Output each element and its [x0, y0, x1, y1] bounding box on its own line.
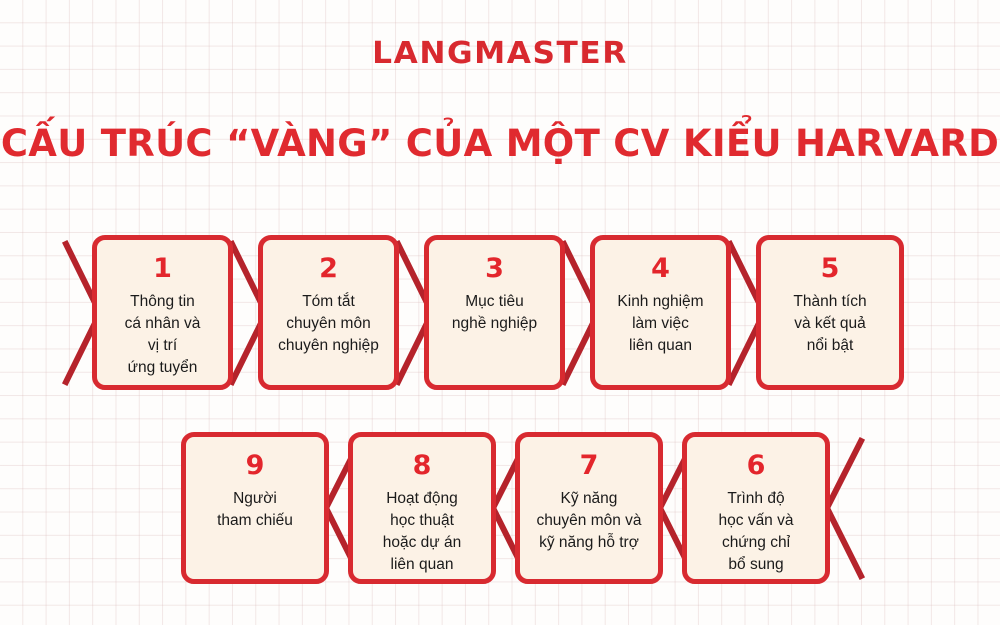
- step-card-7[interactable]: 7 Kỹ năng chuyên môn và kỹ năng hỗ trợ: [515, 432, 663, 584]
- step-text-line: Thành tích: [793, 291, 866, 313]
- step-text-line: học vấn và: [719, 510, 794, 532]
- step-text-line: tham chiếu: [217, 510, 293, 532]
- step-text: Kỹ năng chuyên môn và kỹ năng hỗ trợ: [530, 488, 647, 554]
- step-text: Thành tích và kết quả nổi bật: [787, 291, 872, 357]
- step-number: 9: [246, 452, 265, 479]
- step-text-line: kỹ năng hỗ trợ: [536, 532, 641, 554]
- step-text-line: Kỹ năng: [536, 488, 641, 510]
- step-text-line: nghề nghiệp: [452, 313, 537, 335]
- step-card-3[interactable]: 3 Mục tiêu nghề nghiệp: [424, 235, 565, 390]
- step-text-line: bổ sung: [719, 554, 794, 576]
- step-text-line: hoặc dự án: [383, 532, 461, 554]
- step-number: 6: [747, 452, 766, 479]
- step-text-line: ứng tuyển: [125, 357, 201, 379]
- step-number: 3: [485, 255, 504, 282]
- step-text: Tóm tắt chuyên môn chuyên nghiệp: [272, 291, 385, 357]
- step-text: Hoạt động học thuật hoặc dự án liên quan: [377, 488, 467, 576]
- step-text-line: chuyên môn: [278, 313, 379, 335]
- step-number: 4: [651, 255, 670, 282]
- step-text-line: nổi bật: [793, 335, 866, 357]
- step-text: Mục tiêu nghề nghiệp: [446, 291, 543, 335]
- step-text-line: chuyên môn và: [536, 510, 641, 532]
- langmaster-logo: LANGMASTER: [0, 36, 1000, 71]
- step-text: Trình độ học vấn và chứng chỉ bổ sung: [713, 488, 800, 576]
- step-text-line: vị trí: [125, 335, 201, 357]
- step-text-line: làm việc: [617, 313, 703, 335]
- step-text: Người tham chiếu: [211, 488, 299, 532]
- step-number: 2: [319, 255, 338, 282]
- step-text-line: Thông tin: [125, 291, 201, 313]
- step-text: Thông tin cá nhân và vị trí ứng tuyển: [119, 291, 207, 379]
- step-text-line: chuyên nghiệp: [278, 335, 379, 357]
- step-text-line: Người: [217, 488, 293, 510]
- step-text: Kinh nghiệm làm việc liên quan: [611, 291, 709, 357]
- step-number: 5: [821, 255, 840, 282]
- step-text-line: Trình độ: [719, 488, 794, 510]
- step-text-line: học thuật: [383, 510, 461, 532]
- step-number: 7: [580, 452, 599, 479]
- step-text-line: chứng chỉ: [719, 532, 794, 554]
- step-text-line: liên quan: [383, 554, 461, 576]
- step-text-line: Mục tiêu: [452, 291, 537, 313]
- page-title: CẤU TRÚC “VÀNG” CỦA MỘT CV KIỂU HARVARD: [0, 122, 1000, 165]
- step-card-4[interactable]: 4 Kinh nghiệm làm việc liên quan: [590, 235, 731, 390]
- infographic-canvas: LANGMASTER CẤU TRÚC “VÀNG” CỦA MỘT CV KI…: [0, 0, 1000, 625]
- step-number: 1: [153, 255, 172, 282]
- step-number: 8: [413, 452, 432, 479]
- step-text-line: và kết quả: [793, 313, 866, 335]
- step-card-5[interactable]: 5 Thành tích và kết quả nổi bật: [756, 235, 904, 390]
- step-card-8[interactable]: 8 Hoạt động học thuật hoặc dự án liên qu…: [348, 432, 496, 584]
- step-card-2[interactable]: 2 Tóm tắt chuyên môn chuyên nghiệp: [258, 235, 399, 390]
- step-card-1[interactable]: 1 Thông tin cá nhân và vị trí ứng tuyển: [92, 235, 233, 390]
- step-text-line: liên quan: [617, 335, 703, 357]
- step-text-line: cá nhân và: [125, 313, 201, 335]
- step-card-9[interactable]: 9 Người tham chiếu: [181, 432, 329, 584]
- step-card-6[interactable]: 6 Trình độ học vấn và chứng chỉ bổ sung: [682, 432, 830, 584]
- step-text-line: Kinh nghiệm: [617, 291, 703, 313]
- step-text-line: Tóm tắt: [278, 291, 379, 313]
- step-text-line: Hoạt động: [383, 488, 461, 510]
